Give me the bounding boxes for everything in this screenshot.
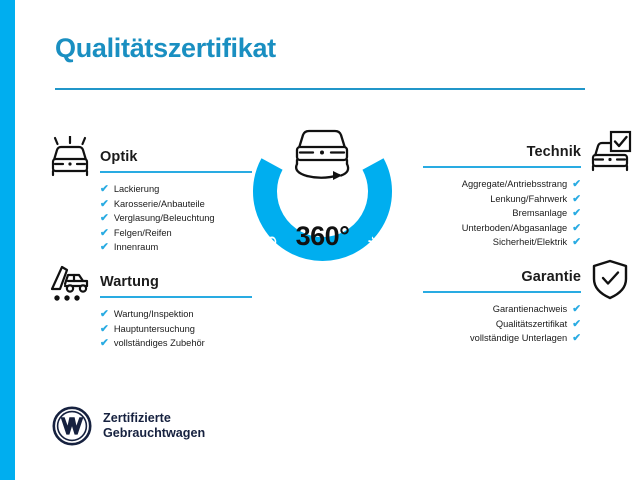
footer-brand: Zertifizierte Gebrauchtwagen <box>52 406 205 446</box>
check-icon: ✔ <box>572 208 581 219</box>
check-icon: ✔ <box>572 179 581 190</box>
list-item-label: Bremsanlage <box>512 206 567 221</box>
list-item-label: Sicherheit/Elektrik <box>493 235 567 250</box>
list-item-label: vollständige Unterlagen <box>470 331 567 346</box>
list-item-label: Qualitätszertifikat <box>496 317 567 332</box>
section-divider <box>423 166 581 168</box>
list-item: vollständige Unterlagen✔ <box>423 331 581 346</box>
section-header: Optik <box>100 143 252 173</box>
list-item-label: Garantienachweis <box>493 302 567 317</box>
checklist: Aggregate/Antriebsstrang✔ Lenkung/Fahrwe… <box>423 177 581 250</box>
check-icon: ✔ <box>572 223 581 234</box>
check-icon: ✔ <box>100 338 109 349</box>
list-item-label: Hauptuntersuchung <box>114 322 195 337</box>
shield-check-icon <box>590 258 630 307</box>
section-divider <box>423 291 581 293</box>
footer-text: Zertifizierte Gebrauchtwagen <box>103 411 205 442</box>
section-header: Technik <box>423 138 581 168</box>
list-item-label: Felgen/Reifen <box>114 226 172 241</box>
check-icon: ✔ <box>100 324 109 335</box>
list-item: Unterboden/Abgasanlage✔ <box>423 221 581 236</box>
check-icon: ✔ <box>100 242 109 253</box>
section-title: Technik <box>527 144 581 160</box>
left-accent-bar <box>0 0 15 480</box>
check-icon: ✔ <box>100 228 109 239</box>
list-item: ✔Innenraum <box>100 240 252 255</box>
list-item-label: Verglasung/Beleuchtung <box>114 211 215 226</box>
car-lift-icon <box>48 262 92 309</box>
section-divider <box>100 171 252 173</box>
list-item-label: Innenraum <box>114 240 158 255</box>
list-item-label: Unterboden/Abgasanlage <box>462 221 567 236</box>
section-title: Garantie <box>521 269 581 285</box>
check-icon: ✔ <box>572 304 581 315</box>
check-icon: ✔ <box>100 199 109 210</box>
list-item: ✔Wartung/Inspektion <box>100 307 252 322</box>
section-technik: Technik Aggregate/Antriebsstrang✔ Lenkun… <box>423 138 581 250</box>
title-divider <box>55 88 585 90</box>
section-wartung: Wartung ✔Wartung/Inspektion ✔Hauptunters… <box>100 268 252 351</box>
list-item-label: Karosserie/Anbauteile <box>114 197 205 212</box>
list-item: Qualitätszertifikat✔ <box>423 317 581 332</box>
list-item: Sicherheit/Elektrik✔ <box>423 235 581 250</box>
check-icon: ✔ <box>100 309 109 320</box>
list-item: Bremsanlage✔ <box>423 206 581 221</box>
list-item: ✔Lackierung <box>100 182 252 197</box>
certificate-page: Qualitätszertifikat <box>0 0 640 480</box>
section-title: Wartung <box>100 274 159 290</box>
list-item-label: vollständiges Zubehör <box>114 336 205 351</box>
check-icon: ✔ <box>572 333 581 344</box>
section-header: Wartung <box>100 268 252 298</box>
badge-360-gebrauchtwagen-check: Gebrauchtwagen-Check 360° <box>245 120 400 295</box>
check-icon: ✔ <box>572 237 581 248</box>
footer-line-1: Zertifizierte <box>103 411 205 427</box>
checklist: ✔Wartung/Inspektion ✔Hauptuntersuchung ✔… <box>100 307 252 351</box>
list-item-label: Aggregate/Antriebsstrang <box>462 177 567 192</box>
checklist: ✔Lackierung ✔Karosserie/Anbauteile ✔Verg… <box>100 182 252 255</box>
list-item: ✔Hauptuntersuchung <box>100 322 252 337</box>
list-item: Garantienachweis✔ <box>423 302 581 317</box>
list-item: ✔Felgen/Reifen <box>100 226 252 241</box>
page-title: Qualitätszertifikat <box>55 33 276 64</box>
check-icon: ✔ <box>572 194 581 205</box>
list-item-label: Wartung/Inspektion <box>114 307 194 322</box>
checklist: Garantienachweis✔ Qualitätszertifikat✔ v… <box>423 302 581 346</box>
section-garantie: Garantie Garantienachweis✔ Qualitätszert… <box>423 263 581 346</box>
car-shine-icon <box>48 136 92 183</box>
volkswagen-logo <box>52 406 92 446</box>
section-divider <box>100 296 252 298</box>
list-item-label: Lenkung/Fahrwerk <box>490 192 567 207</box>
section-title: Optik <box>100 149 138 165</box>
check-icon: ✔ <box>572 319 581 330</box>
list-item: Lenkung/Fahrwerk✔ <box>423 192 581 207</box>
car-checkbox-icon <box>588 130 632 179</box>
footer-line-2: Gebrauchtwagen <box>103 426 205 442</box>
list-item: ✔Karosserie/Anbauteile <box>100 197 252 212</box>
section-optik: Optik ✔Lackierung ✔Karosserie/Anbauteile… <box>100 143 252 255</box>
check-icon: ✔ <box>100 184 109 195</box>
list-item: ✔vollständiges Zubehör <box>100 336 252 351</box>
list-item: ✔Verglasung/Beleuchtung <box>100 211 252 226</box>
list-item-label: Lackierung <box>114 182 159 197</box>
badge-center-text: 360° <box>245 221 400 252</box>
check-icon: ✔ <box>100 213 109 224</box>
section-header: Garantie <box>423 263 581 293</box>
list-item: Aggregate/Antriebsstrang✔ <box>423 177 581 192</box>
